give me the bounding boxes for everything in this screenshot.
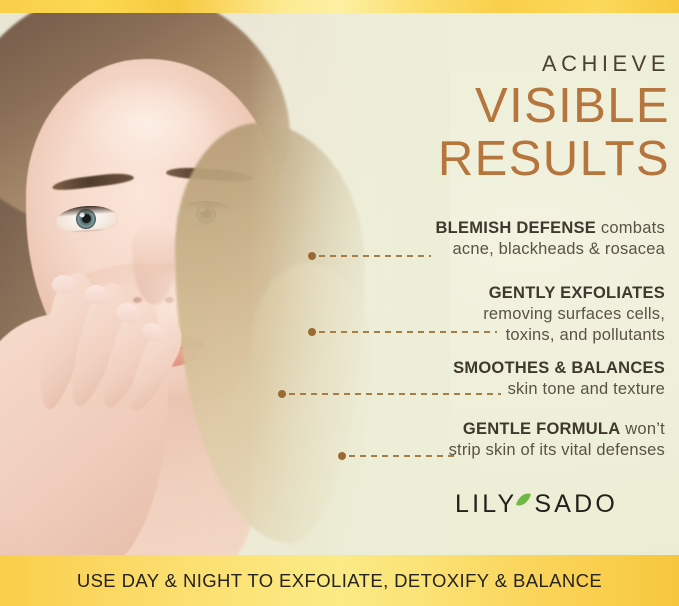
benefit-item-gentle-formula: GENTLE FORMULA won’t strip skin of its v…: [265, 419, 665, 461]
product-benefit-poster: ACHIEVE VISIBLE RESULTS BLEMISH DEFENSE …: [0, 0, 679, 606]
headline-eyebrow: ACHIEVE: [330, 52, 670, 76]
benefit-headline-strong: GENTLE FORMULA: [463, 420, 621, 438]
benefit-headline: GENTLE FORMULA won’t: [265, 419, 665, 440]
benefit-subtext: strip skin of its vital defenses: [265, 440, 665, 461]
benefit-headline: GENTLY EXFOLIATES: [265, 283, 665, 304]
leaf-icon: [516, 491, 531, 509]
connector-dot-icon: [338, 452, 346, 460]
brand-logo: LILY SADO: [455, 490, 618, 519]
brand-logo-word-1: LILY: [455, 490, 517, 519]
benefit-item-gently-exfoliates: GENTLY EXFOLIATES removing surfaces cell…: [265, 283, 665, 346]
headline-line-1: VISIBLE: [330, 80, 670, 133]
bottom-tagline-text: USE DAY & NIGHT TO EXFOLIATE, DETOXIFY &…: [77, 570, 602, 592]
benefit-headline-tail: won’t: [620, 420, 665, 438]
connector-dot-icon: [278, 390, 286, 398]
benefit-item-blemish-defense: BLEMISH DEFENSE combats acne, blackheads…: [265, 218, 665, 260]
connector-dash-line: [319, 255, 431, 257]
benefit-headline: SMOOTHES & BALANCES: [265, 358, 665, 379]
bottom-tagline-banner: USE DAY & NIGHT TO EXFOLIATE, DETOXIFY &…: [0, 555, 679, 606]
connector-dash-line: [349, 455, 454, 457]
benefit-headline-strong: SMOOTHES & BALANCES: [453, 359, 665, 377]
top-accent-bar: [0, 0, 679, 13]
connector-dash-line: [319, 331, 497, 333]
benefit-headline-strong: GENTLY EXFOLIATES: [489, 284, 665, 302]
benefit-subtext: removing surfaces cells,: [265, 304, 665, 325]
forehead-highlight: [72, 75, 222, 171]
benefit-headline-strong: BLEMISH DEFENSE: [436, 219, 597, 237]
connector-dot-icon: [308, 252, 316, 260]
brand-logo-word-2: SADO: [534, 490, 618, 519]
benefit-headline-tail: combats: [596, 219, 665, 237]
headline-line-2: RESULTS: [330, 133, 670, 186]
benefit-headline: BLEMISH DEFENSE combats: [265, 218, 665, 239]
headline-block: ACHIEVE VISIBLE RESULTS: [330, 52, 670, 186]
connector-dot-icon: [308, 328, 316, 336]
connector-dash-line: [289, 393, 501, 395]
benefit-subtext: skin tone and texture: [265, 379, 665, 400]
benefit-subtext-line2: toxins, and pollutants: [265, 325, 665, 346]
benefit-subtext: acne, blackheads & rosacea: [265, 239, 665, 260]
